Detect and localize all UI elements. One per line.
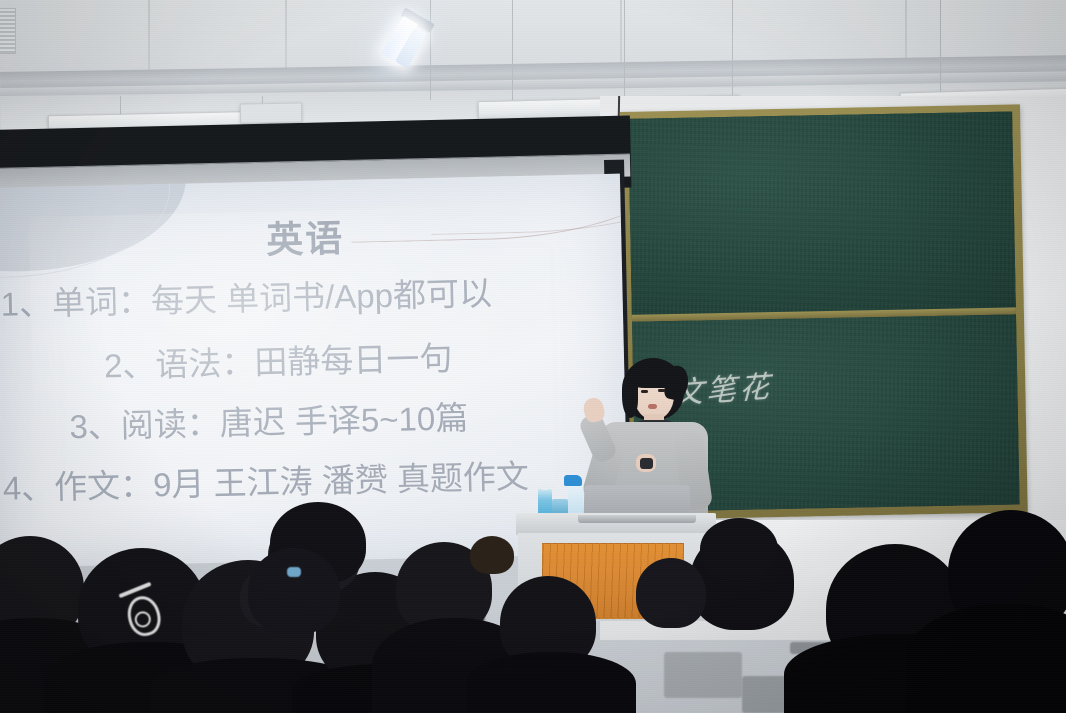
light-hanging-wire	[732, 0, 733, 96]
podium	[516, 513, 716, 621]
light-hanging-wire	[624, 0, 625, 102]
presenter-held-object	[640, 458, 653, 469]
hair-clip	[124, 593, 165, 640]
audience-shoulders	[372, 618, 536, 713]
presenter-mouth	[648, 404, 657, 409]
hair-tie	[287, 567, 301, 577]
audience-shoulders	[150, 658, 366, 713]
podium-wood-panel	[542, 543, 684, 619]
audience-head	[178, 598, 228, 644]
light-hanging-wire	[512, 0, 513, 100]
laptop-base	[578, 515, 696, 523]
light-hanging-wire	[940, 0, 941, 92]
audience-head	[182, 560, 314, 684]
sanitizer-bottle-icon	[538, 489, 552, 515]
seat-back	[790, 642, 886, 654]
audience-shoulders	[0, 618, 130, 713]
ceiling-vent	[0, 8, 16, 54]
classroom-scene: 文笔花 英语 1、单词：每天 单词书/App都可以 2、语法：田静每日一句 3、…	[0, 0, 1066, 713]
audience-head	[440, 596, 484, 636]
audience-shoulders	[466, 652, 636, 713]
presenter-eye	[658, 389, 665, 392]
presenter-eye	[641, 390, 648, 393]
slide-bullet-3: 3、阅读：唐迟 手译5~10篇	[69, 388, 626, 449]
slide-bullet-4: 4、作文：9月 王江涛 潘赟 真题作文	[2, 448, 627, 510]
slide-bullet-2: 2、语法：田静每日一句	[103, 328, 624, 388]
ceiling-seam	[148, 0, 150, 78]
audience-shoulders	[44, 642, 256, 713]
seat-back	[664, 652, 742, 698]
audience-shoulders	[784, 634, 1014, 713]
slide-bullet-1: 1、单词：每天 单词书/App都可以	[0, 264, 623, 326]
fluorescent-light-icon	[240, 102, 302, 123]
audience-head	[330, 580, 396, 640]
blackboard-panel-upper	[628, 111, 1016, 314]
spray-bottle-icon	[568, 485, 583, 515]
seat-back	[742, 676, 838, 713]
slide-title: 英语	[0, 202, 622, 270]
slide-content: 英语 1、单词：每天 单词书/App都可以 2、语法：田静每日一句 3、阅读：唐…	[0, 174, 628, 568]
projection-screen: 英语 1、单词：每天 单词书/App都可以 2、语法：田静每日一句 3、阅读：唐…	[0, 174, 628, 568]
audience-shoulders	[292, 664, 484, 713]
audience-head	[316, 572, 434, 684]
